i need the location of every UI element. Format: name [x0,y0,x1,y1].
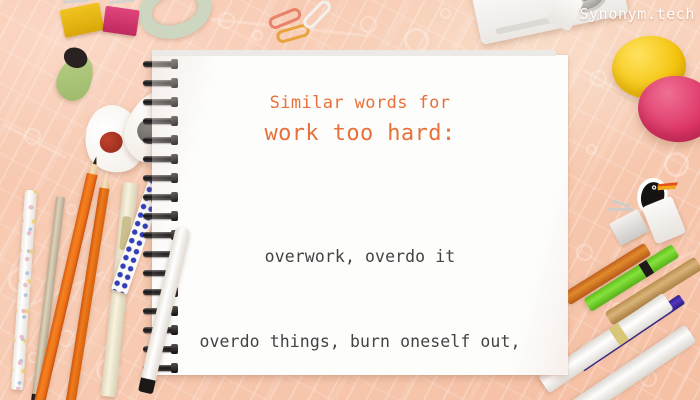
binder-clip-pink [102,6,139,36]
notepad-content: Similar words for work too hard: overwor… [152,55,568,375]
notepad: Similar words for work too hard: overwor… [152,55,568,375]
site-logo[interactable]: Synonym.tech [579,5,695,23]
desk-scene: Similar words for work too hard: overwor… [0,0,700,400]
binder-clip-arm [607,208,633,211]
circuit-pad [360,16,377,33]
binder-clip-body [102,6,139,36]
headline-term: work too hard: [264,117,455,150]
circuit-pad [66,204,77,215]
synonym-line: overdo things, burn oneself out, [199,328,520,356]
synonym-line: overwork, overdo it [199,243,520,271]
synonym-list: overwork, overdo it overdo things, burn … [199,186,520,400]
circuit-pad [440,8,451,19]
circuit-pad [576,244,593,261]
circuit-pad [586,144,597,155]
headline-prefix: Similar words for [270,93,451,114]
circuit-pad [252,30,263,41]
